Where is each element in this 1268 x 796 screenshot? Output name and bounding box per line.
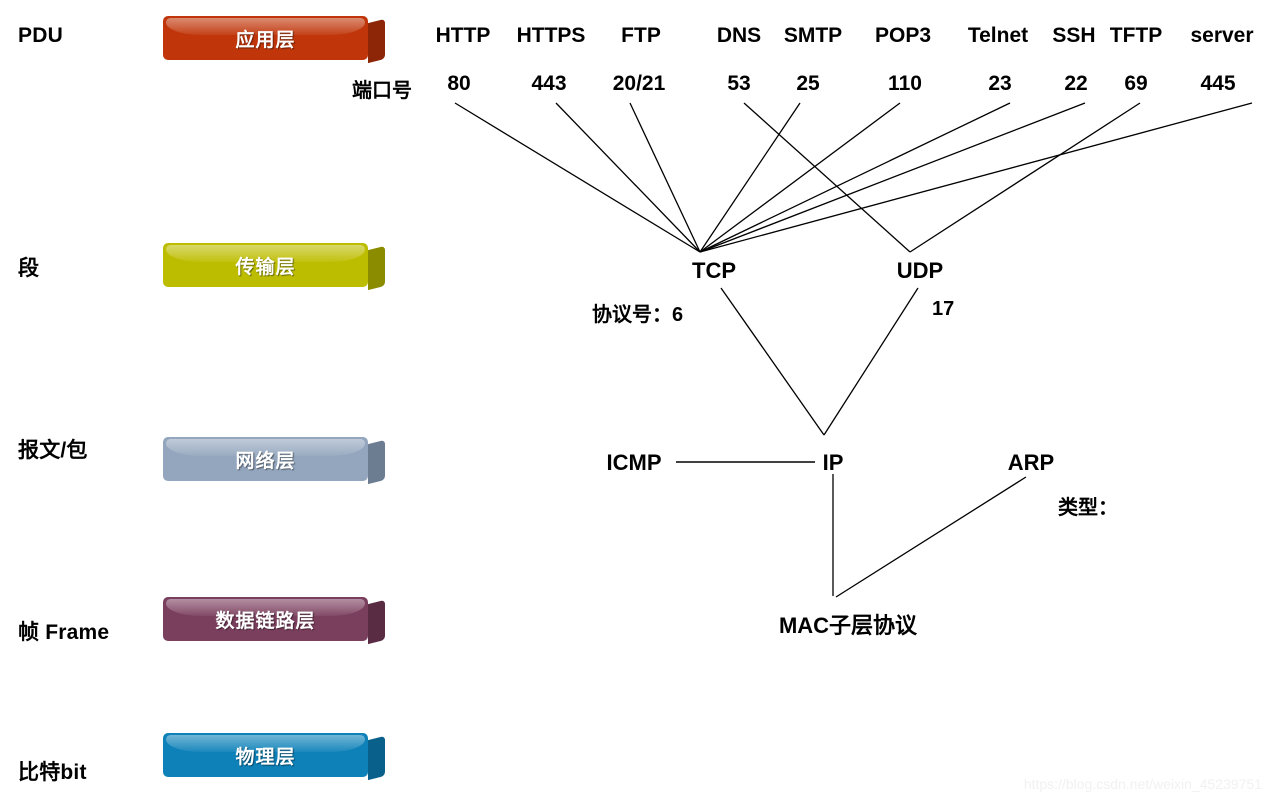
wire-tcp-ip xyxy=(721,288,824,435)
app-protocol-telnet[interactable]: Telnet xyxy=(968,24,1028,48)
wire-ftp-tcp xyxy=(630,103,700,252)
network-node-icmp[interactable]: ICMP xyxy=(607,450,662,476)
wire-dns-udp xyxy=(744,103,910,252)
port-http: 80 xyxy=(447,72,470,96)
app-protocol-server[interactable]: server xyxy=(1190,24,1253,48)
app-protocol-http[interactable]: HTTP xyxy=(436,24,491,48)
layer-box-physical[interactable]: 物理层 xyxy=(163,733,385,781)
layer-side xyxy=(368,19,385,63)
protocol-stack-diagram: PDU 段 报文/包 帧 Frame 比特bit 应用层 传输层 网络层 数据链… xyxy=(0,0,1268,796)
wire-telnet-tcp xyxy=(700,103,1010,252)
port-ftp: 20/21 xyxy=(613,72,666,96)
connector-lines xyxy=(0,0,1268,796)
layer-box-transport[interactable]: 传输层 xyxy=(163,243,385,291)
app-protocol-https[interactable]: HTTPS xyxy=(517,24,586,48)
wire-https-tcp xyxy=(556,103,700,252)
wire-smtp-tcp xyxy=(700,103,800,252)
layer-box-application[interactable]: 应用层 xyxy=(163,16,385,64)
wire-ssh-tcp xyxy=(700,103,1085,252)
port-smtp: 25 xyxy=(796,72,819,96)
layer-label-network: 网络层 xyxy=(163,437,368,481)
protocol-number-tcp-label: 协议号：6 xyxy=(592,298,683,327)
app-protocol-smtp[interactable]: SMTP xyxy=(784,24,842,48)
app-protocol-pop3[interactable]: POP3 xyxy=(875,24,931,48)
layer-side xyxy=(368,440,385,484)
network-node-ip[interactable]: IP xyxy=(823,450,844,476)
layer-side xyxy=(368,600,385,644)
wire-arp-mac xyxy=(836,477,1026,597)
arp-type-label: 类型： xyxy=(1058,491,1118,520)
wire-server-tcp xyxy=(700,103,1252,252)
pdu-label-datalink: 帧 Frame xyxy=(18,616,109,646)
app-protocol-dns[interactable]: DNS xyxy=(717,24,761,48)
layer-label-application: 应用层 xyxy=(163,16,368,60)
pdu-label-transport: 段 xyxy=(18,252,39,282)
wire-tftp-udp xyxy=(910,103,1140,252)
layer-label-datalink: 数据链路层 xyxy=(163,597,368,641)
layer-box-network[interactable]: 网络层 xyxy=(163,437,385,485)
network-node-arp[interactable]: ARP xyxy=(1008,450,1054,476)
wire-pop3-tcp xyxy=(700,103,900,252)
layer-label-transport: 传输层 xyxy=(163,243,368,287)
port-ssh: 22 xyxy=(1064,72,1087,96)
layer-side xyxy=(368,246,385,290)
port-number-label: 端口号 xyxy=(352,74,412,103)
app-protocol-tftp[interactable]: TFTP xyxy=(1110,24,1163,48)
watermark: https://blog.csdn.net/weixin_45239751 xyxy=(1024,776,1262,792)
wire-udp-ip xyxy=(824,288,918,435)
transport-node-udp[interactable]: UDP xyxy=(897,258,943,284)
pdu-label-physical: 比特bit xyxy=(18,756,87,786)
app-protocol-ssh[interactable]: SSH xyxy=(1052,24,1095,48)
layer-label-physical: 物理层 xyxy=(163,733,368,777)
protocol-number-udp-value: 17 xyxy=(932,298,954,321)
wire-http-tcp xyxy=(455,103,700,252)
layer-box-datalink[interactable]: 数据链路层 xyxy=(163,597,385,645)
port-telnet: 23 xyxy=(988,72,1011,96)
port-pop3: 110 xyxy=(888,72,922,96)
port-dns: 53 xyxy=(727,72,750,96)
layer-side xyxy=(368,736,385,780)
app-protocol-ftp[interactable]: FTP xyxy=(621,24,661,48)
port-https: 443 xyxy=(531,72,566,96)
transport-node-tcp[interactable]: TCP xyxy=(692,258,736,284)
pdu-label-application: PDU xyxy=(18,24,63,48)
mac-sublayer-node[interactable]: MAC子层协议 xyxy=(779,608,917,640)
pdu-label-network: 报文/包 xyxy=(18,434,88,464)
port-server: 445 xyxy=(1200,72,1235,96)
port-tftp: 69 xyxy=(1124,72,1147,96)
